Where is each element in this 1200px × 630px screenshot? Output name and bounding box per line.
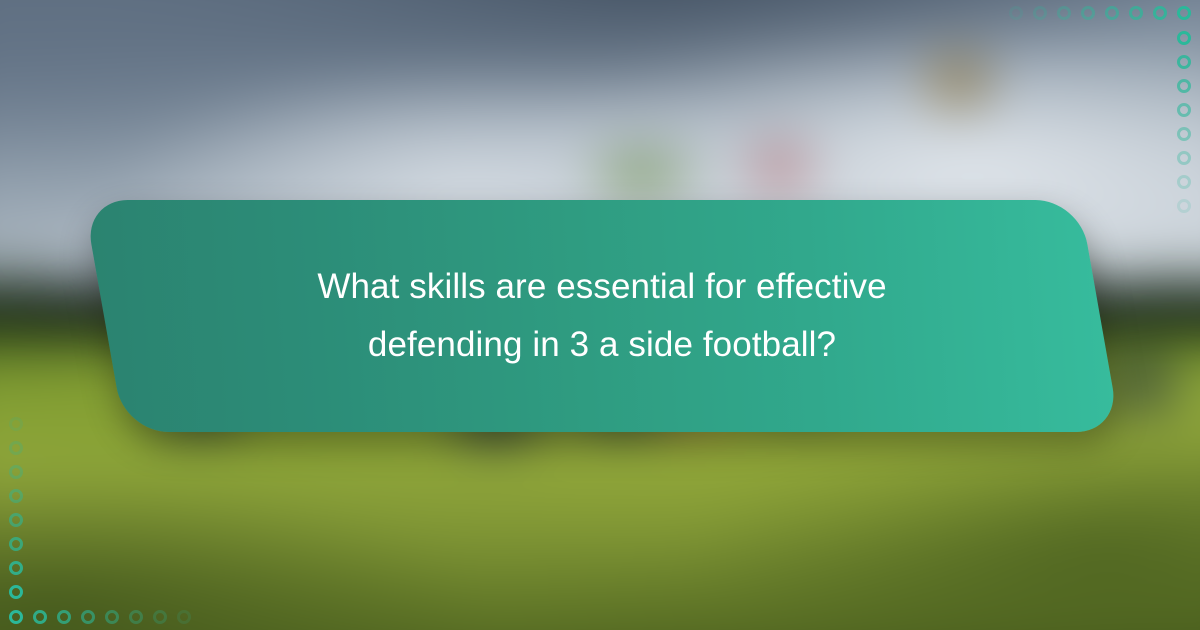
decor-circle-icon (1177, 55, 1191, 69)
decor-circle-icon (1057, 6, 1071, 20)
decor-circle-icon (1177, 103, 1191, 117)
question-card-graphic: What skills are essential for effective … (0, 0, 1200, 630)
decor-circle-icon (9, 441, 23, 455)
player-red-blob (745, 143, 815, 191)
decor-circle-icon (9, 610, 23, 624)
decor-circle-icon (9, 537, 23, 551)
decor-circle-icon (1177, 175, 1191, 189)
question-card-content: What skills are essential for effective … (104, 200, 1100, 432)
decor-circle-icon (1081, 6, 1095, 20)
decor-circle-icon (81, 610, 95, 624)
decor-circle-icon (1177, 6, 1191, 20)
decor-circle-icon (9, 417, 23, 431)
decor-circle-icon (1177, 79, 1191, 93)
decor-circle-icon (1177, 31, 1191, 45)
decor-circle-icon (1105, 6, 1119, 20)
decor-circle-icon (177, 610, 191, 624)
decor-circle-icon (1177, 127, 1191, 141)
decor-dots-bottom-left (4, 605, 196, 629)
decor-circle-icon (105, 610, 119, 624)
decor-circle-icon (1009, 6, 1023, 20)
decor-circle-icon (57, 610, 71, 624)
player-blob-5 (1102, 360, 1178, 412)
decor-dots-top-right (1004, 1, 1196, 25)
decor-circle-icon (1177, 199, 1191, 213)
decor-circle-icon (9, 513, 23, 527)
decor-circle-icon (129, 610, 143, 624)
decor-dots-right-column (1172, 26, 1196, 218)
decor-circle-icon (9, 489, 23, 503)
question-card: What skills are essential for effective … (104, 200, 1100, 432)
decor-circle-icon (1033, 6, 1047, 20)
bush-blob (587, 150, 697, 194)
decor-circle-icon (33, 610, 47, 624)
decor-circle-icon (9, 561, 23, 575)
decor-circle-icon (1153, 6, 1167, 20)
decor-circle-icon (9, 585, 23, 599)
decor-circle-icon (1177, 151, 1191, 165)
decor-dots-left-column (4, 412, 28, 604)
question-text: What skills are essential for effective … (282, 258, 922, 375)
decor-circle-icon (153, 610, 167, 624)
decor-circle-icon (9, 465, 23, 479)
decor-circle-icon (1129, 6, 1143, 20)
